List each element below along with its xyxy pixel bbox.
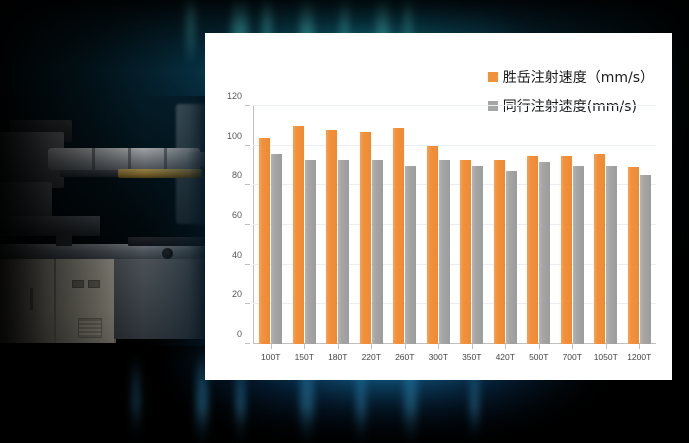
bar-series-a[interactable] <box>427 146 438 344</box>
y-axis-label: 80 <box>232 170 242 180</box>
x-tick <box>539 344 540 349</box>
legend-item-1[interactable]: 胜岳注射速度（mm/s） <box>488 67 654 87</box>
bar-series-b[interactable] <box>372 160 383 344</box>
y-axis-label: 20 <box>232 289 242 299</box>
bar-series-a[interactable] <box>326 130 337 344</box>
bar-groups: 100T150T180T220T260T300T350T420T500T700T… <box>254 106 656 344</box>
bar-series-b[interactable] <box>573 166 584 345</box>
bar-group: 500T <box>522 106 556 344</box>
y-tick-100 <box>245 145 250 146</box>
bar-series-a[interactable] <box>259 138 270 344</box>
x-axis-label: 180T <box>328 352 347 362</box>
bar-series-a[interactable] <box>393 128 404 344</box>
bar-group: 220T <box>355 106 389 344</box>
bar-series-a[interactable] <box>494 160 505 344</box>
bar-series-b[interactable] <box>606 166 617 345</box>
y-tick-0 <box>245 343 250 344</box>
y-axis-label: 40 <box>232 250 242 260</box>
x-axis-label: 220T <box>362 352 381 362</box>
bar-series-b[interactable] <box>305 160 316 344</box>
x-tick <box>572 344 573 349</box>
slide-canvas: 胜岳注射速度（mm/s）同行注射速度(mm/s) 020406080100120… <box>0 0 689 443</box>
x-axis-label: 100T <box>261 352 280 362</box>
x-axis-label: 700T <box>563 352 582 362</box>
x-axis-label: 1200T <box>627 352 651 362</box>
bar-series-b[interactable] <box>405 166 416 345</box>
bar-chart: 胜岳注射速度（mm/s）同行注射速度(mm/s) 020406080100120… <box>205 33 672 380</box>
bar-series-a[interactable] <box>594 154 605 344</box>
bar-group: 700T <box>556 106 590 344</box>
bar-series-b[interactable] <box>539 162 550 344</box>
y-axis-label: 60 <box>232 210 242 220</box>
y-axis-label: 120 <box>227 91 242 101</box>
plot-area: 020406080100120 100T150T180T220T260T300T… <box>253 106 656 344</box>
x-tick <box>639 344 640 349</box>
legend-swatch-icon <box>488 72 498 82</box>
chart-panel: 胜岳注射速度（mm/s）同行注射速度(mm/s) 020406080100120… <box>205 33 672 380</box>
bar-group: 1050T <box>589 106 623 344</box>
x-axis-label: 420T <box>496 352 515 362</box>
bar-series-a[interactable] <box>360 132 371 344</box>
bar-series-a[interactable] <box>561 156 572 344</box>
x-axis-label: 1050T <box>594 352 618 362</box>
bar-group: 300T <box>422 106 456 344</box>
bar-series-a[interactable] <box>293 126 304 344</box>
bar-group: 1200T <box>623 106 657 344</box>
x-axis-label: 260T <box>395 352 414 362</box>
x-tick <box>271 344 272 349</box>
bar-series-b[interactable] <box>338 160 349 344</box>
x-tick <box>606 344 607 349</box>
y-tick-120 <box>245 105 250 106</box>
bar-series-b[interactable] <box>640 175 651 344</box>
bar-group: 180T <box>321 106 355 344</box>
bar-group: 350T <box>455 106 489 344</box>
x-tick <box>371 344 372 349</box>
legend-label: 胜岳注射速度（mm/s） <box>503 67 654 87</box>
bar-series-b[interactable] <box>439 160 450 344</box>
x-tick <box>304 344 305 349</box>
bar-group: 150T <box>288 106 322 344</box>
bar-series-b[interactable] <box>506 171 517 344</box>
x-axis-label: 300T <box>429 352 448 362</box>
x-axis-label: 350T <box>462 352 481 362</box>
x-tick <box>338 344 339 349</box>
x-tick <box>472 344 473 349</box>
bar-series-a[interactable] <box>527 156 538 344</box>
y-tick-60 <box>245 224 250 225</box>
bar-series-a[interactable] <box>460 160 471 344</box>
bar-series-b[interactable] <box>472 166 483 345</box>
x-tick <box>505 344 506 349</box>
x-tick <box>405 344 406 349</box>
y-axis-label: 0 <box>237 329 242 339</box>
bar-group: 100T <box>254 106 288 344</box>
bar-group: 260T <box>388 106 422 344</box>
bar-group: 420T <box>489 106 523 344</box>
bar-series-a[interactable] <box>628 167 639 344</box>
y-tick-20 <box>245 303 250 304</box>
x-tick <box>438 344 439 349</box>
bar-series-b[interactable] <box>271 154 282 344</box>
x-axis-label: 150T <box>295 352 314 362</box>
y-axis-label: 100 <box>227 131 242 141</box>
x-axis-label: 500T <box>529 352 548 362</box>
y-tick-80 <box>245 184 250 185</box>
y-tick-40 <box>245 264 250 265</box>
